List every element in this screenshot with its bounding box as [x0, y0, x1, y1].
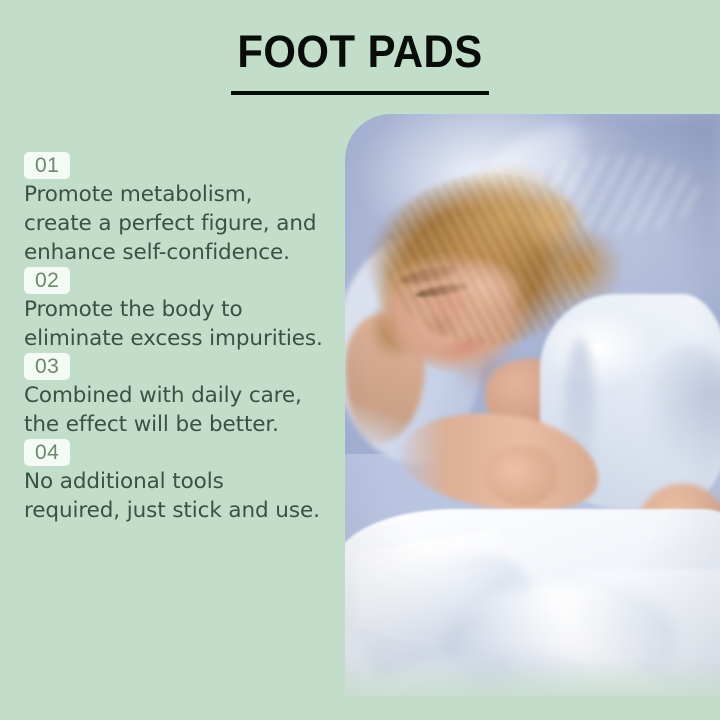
page-title: FOOT PADS: [25, 26, 695, 78]
benefit-text-01: Promote metabolism, create a perfect fig…: [24, 180, 332, 267]
benefit-number-badge-03: 03: [24, 353, 70, 380]
title-underline-rule: [231, 91, 489, 95]
benefit-text-03: Combined with daily care, the effect wil…: [24, 381, 332, 439]
benefit-number-badge-02: 02: [24, 267, 70, 294]
product-poster: FOOT PADS: [0, 0, 720, 720]
benefit-item-01: 01 Promote metabolism, create a perfect …: [24, 152, 332, 267]
sleeping-woman-photo: [345, 114, 720, 696]
benefit-item-02: 02 Promote the body to eliminate excess …: [24, 267, 332, 353]
photo-vignette: [345, 114, 720, 696]
photo-bottom-fade: [345, 660, 720, 696]
benefit-item-03: 03 Combined with daily care, the effect …: [24, 353, 332, 439]
benefit-number-badge-01: 01: [24, 152, 70, 179]
benefits-list: 01 Promote metabolism, create a perfect …: [24, 152, 332, 525]
title-block: FOOT PADS: [0, 26, 720, 95]
benefit-number-badge-04: 04: [24, 439, 70, 466]
benefit-text-04: No additional tools required, just stick…: [24, 467, 332, 525]
benefit-text-02: Promote the body to eliminate excess imp…: [24, 295, 332, 353]
benefit-item-04: 04 No additional tools required, just st…: [24, 439, 332, 525]
